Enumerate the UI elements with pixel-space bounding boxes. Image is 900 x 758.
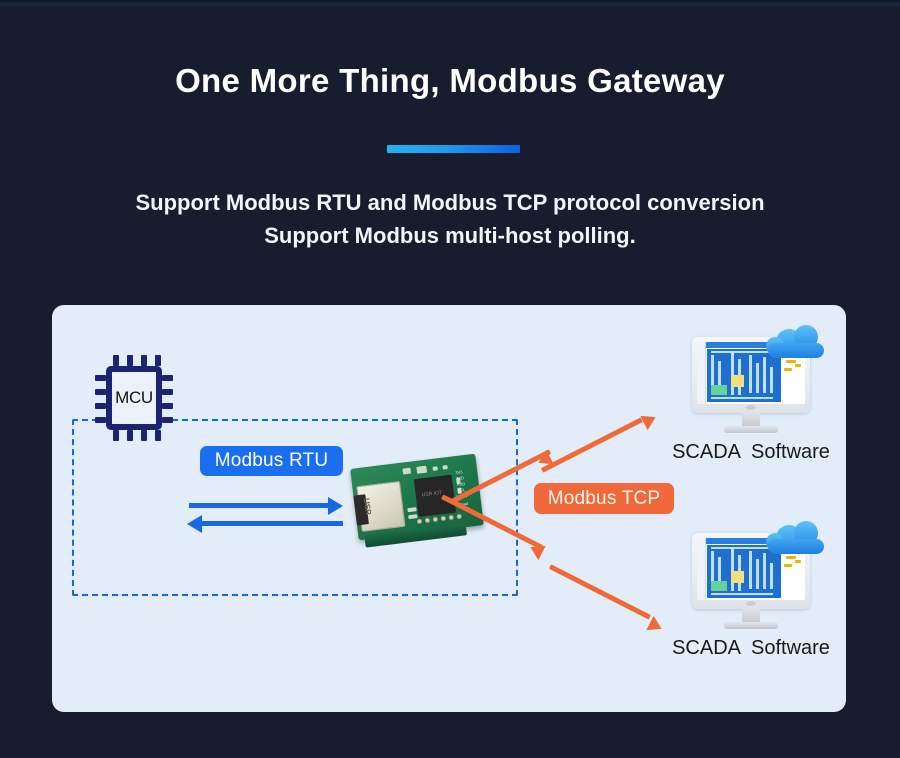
scada-caption-1: SCADA Software — [636, 441, 866, 464]
soc-chip-marking: USR IOT — [421, 490, 442, 498]
badge-modbus-rtu: Modbus RTU — [200, 446, 343, 476]
page-title: One More Thing, Modbus Gateway — [0, 62, 900, 100]
mcu-chip-body: MCU — [106, 366, 162, 430]
cloud-icon — [764, 325, 826, 359]
soc-chip: USR IOT — [414, 475, 456, 517]
monitor-stand-base — [724, 426, 778, 433]
monitor-logo — [746, 601, 756, 606]
monitor-stand-neck — [742, 413, 760, 426]
rj45-connector: USR — [356, 481, 405, 532]
scada-monitor-1: SCADA Software — [692, 337, 810, 435]
scada-caption-2: SCADA Software — [636, 637, 866, 660]
monitor-stand-neck — [742, 609, 760, 622]
monitor-stand-base — [724, 622, 778, 629]
monitor-logo — [746, 405, 756, 410]
subtitle-line-1: Support Modbus RTU and Modbus TCP protoc… — [0, 186, 900, 219]
scada-sidebar — [697, 538, 706, 600]
page-subtitle: Support Modbus RTU and Modbus TCP protoc… — [0, 186, 900, 252]
badge-modbus-tcp: Modbus TCP — [534, 483, 674, 514]
mcu-chip-icon: MCU — [95, 355, 173, 441]
title-accent-bar — [387, 145, 520, 153]
scada-sidebar — [697, 342, 706, 404]
subtitle-line-2: Support Modbus multi-host polling. — [0, 219, 900, 252]
top-accent-strip — [0, 0, 900, 8]
cloud-icon — [764, 521, 826, 555]
diagram-panel: MCU Modbus RTU USR USR IOT — [52, 305, 846, 712]
mcu-label: MCU — [115, 388, 153, 408]
scada-monitor-2: SCADA Software — [692, 533, 810, 631]
module-brand-text: USR — [362, 498, 373, 516]
